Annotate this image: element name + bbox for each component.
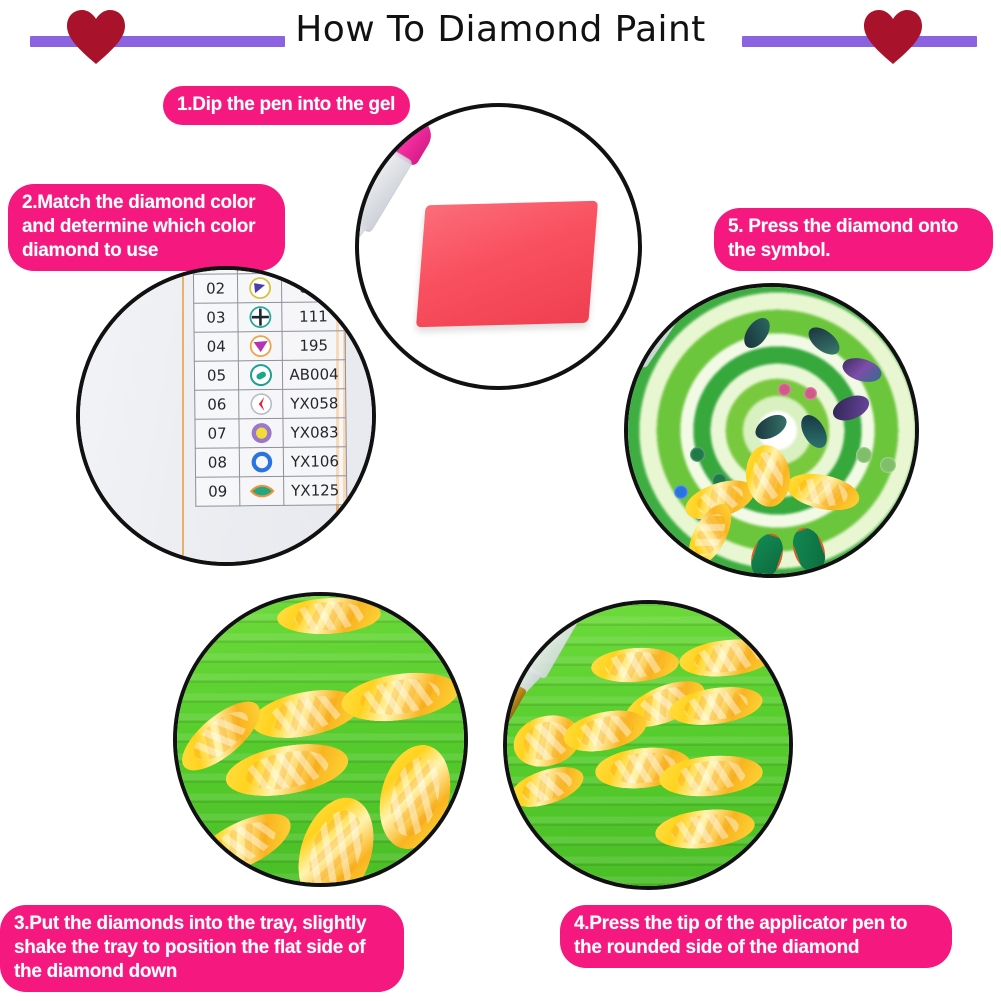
table-row: 07 YX083 <box>195 418 346 449</box>
infographic-page: How To Diamond Paint 1.Dip the pen into … <box>0 0 1001 1001</box>
chart-code: 111 <box>282 302 345 332</box>
step-2-label: 2.Match the diamond color and determine … <box>8 184 285 271</box>
table-row: 04 195 <box>194 331 345 362</box>
pen-tip-icon <box>503 682 527 725</box>
step-5-label: 5. Press the diamond onto the symbol. <box>714 208 993 271</box>
chart-code: YX106 <box>283 447 346 477</box>
table-row: 03 111 <box>194 302 345 333</box>
diamonds-in-tray-photo <box>177 596 464 883</box>
triangle-down-icon <box>241 332 280 359</box>
chart-number: 06 <box>195 390 239 419</box>
canvas-symbol-dot <box>880 457 896 473</box>
oval-pill-icon <box>241 361 280 388</box>
canvas-symbol-dot <box>778 383 791 396</box>
chart-code: 093 <box>281 273 344 303</box>
plus-cross-icon <box>240 303 279 330</box>
guide-line-left <box>182 266 184 566</box>
page-title: How To Diamond Paint <box>0 9 1001 50</box>
chart-number: 03 <box>194 303 238 332</box>
filled-circle-icon <box>241 419 280 446</box>
canvas-symbol-dot <box>674 485 688 499</box>
chart-code: 195 <box>282 331 345 361</box>
pen-dipping-gel-photo <box>359 107 638 386</box>
step-3-label: 3.Put the diamonds into the tray, slight… <box>0 905 404 992</box>
ring-circle-icon <box>242 448 281 475</box>
chart-code: YX058 <box>283 389 346 419</box>
triangle-flag-icon <box>240 274 279 301</box>
table-row: 02 093 <box>193 273 344 304</box>
chart-number: 02 <box>193 274 237 303</box>
red-gel-pad <box>416 201 598 327</box>
step-3-photo-circle <box>173 592 468 887</box>
leaf-marquise-icon <box>242 477 281 504</box>
color-chart-table: 028 02 <box>193 266 348 507</box>
chart-code: YX083 <box>283 418 346 448</box>
chart-code: AB004 <box>282 360 345 390</box>
chart-symbol <box>238 302 282 331</box>
chart-symbol <box>239 447 283 476</box>
canvas-symbol-dot <box>690 447 705 462</box>
canvas-symbol-dot <box>804 387 817 400</box>
chart-number: 04 <box>194 332 238 361</box>
header: How To Diamond Paint <box>0 0 1001 78</box>
diamond-on-canvas-photo <box>628 287 915 574</box>
step-2-photo-circle: 028 02 <box>76 266 376 566</box>
table-row: 08 YX106 <box>195 447 346 478</box>
table-row: 06 YX058 <box>195 389 346 420</box>
chart-number: 05 <box>194 361 238 390</box>
step-5-photo-circle <box>624 283 919 578</box>
color-chart-photo: 028 02 <box>80 270 372 562</box>
chart-paper: 028 02 <box>76 266 376 566</box>
chart-number: 08 <box>195 448 239 477</box>
chevron-left-icon <box>241 390 280 417</box>
canvas-symbol-dot <box>856 447 872 463</box>
chart-symbol <box>239 418 283 447</box>
table-row: 09 YX125 <box>196 476 347 507</box>
step-4-label: 4.Press the tip of the applicator pen to… <box>560 905 952 968</box>
chart-symbol <box>240 476 284 505</box>
chart-symbol <box>238 331 282 360</box>
step-1-photo-circle <box>355 103 642 390</box>
chart-symbol <box>237 273 281 302</box>
pen-picking-diamond-photo <box>507 604 789 886</box>
table-row: 05 AB004 <box>194 360 345 391</box>
step-4-photo-circle <box>503 600 793 890</box>
chart-symbol <box>238 360 282 389</box>
chart-code: YX125 <box>284 476 347 506</box>
chart-number: 07 <box>195 419 239 448</box>
chart-number: 09 <box>196 477 240 506</box>
chart-symbol <box>239 389 283 418</box>
